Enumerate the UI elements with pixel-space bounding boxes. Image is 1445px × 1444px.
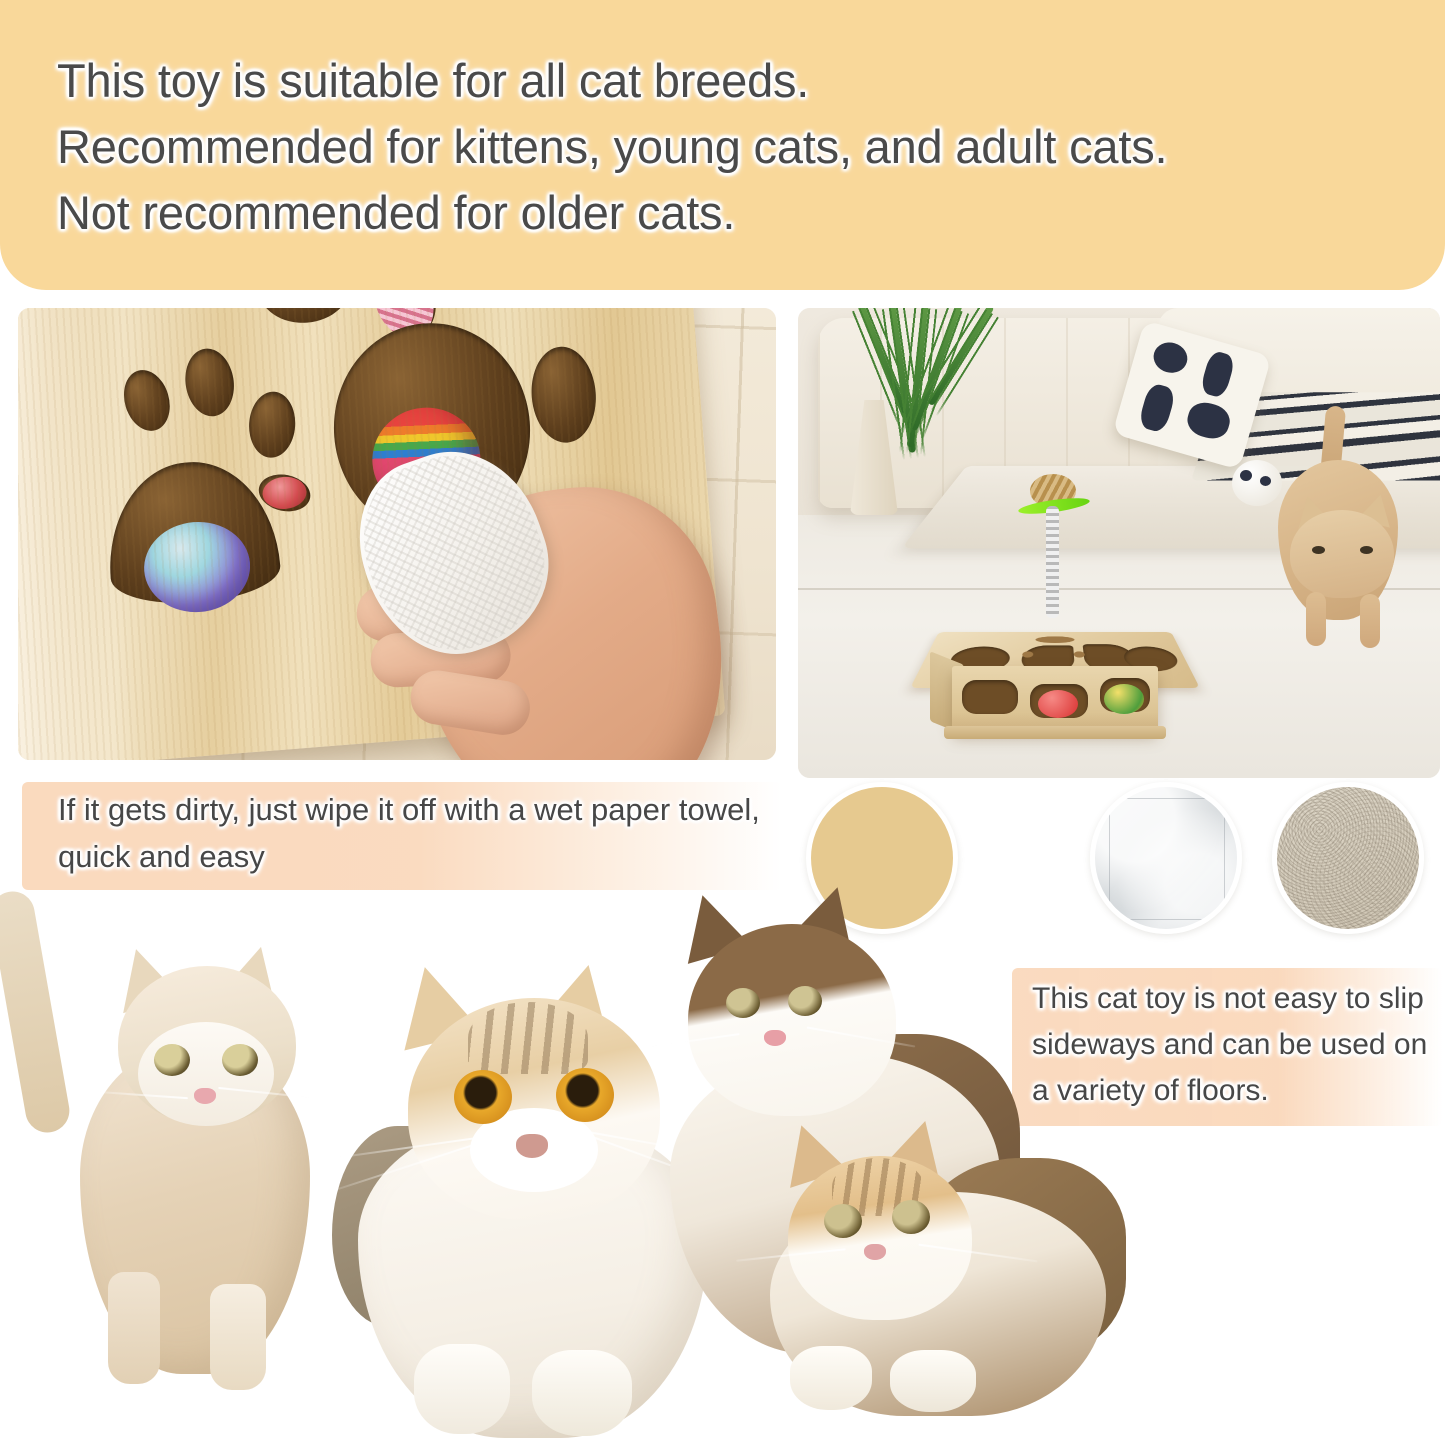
paw-pad-hole-large <box>102 456 282 609</box>
header-line-1: This toy is suitable for all cat breeds. <box>57 48 1397 114</box>
header-line-2: Recommended for kittens, young cats, and… <box>57 114 1397 180</box>
toy-box-front <box>952 666 1158 732</box>
eye-left <box>726 988 760 1018</box>
cat-head <box>1290 510 1394 598</box>
header-line-3: Not recommended for older cats. <box>57 180 1397 246</box>
room-photo <box>798 308 1440 778</box>
paw-front-right <box>532 1350 632 1436</box>
ball-yellow-inside <box>1104 684 1144 714</box>
spring-coil <box>1046 506 1059 618</box>
cat-leg-left <box>1306 592 1326 646</box>
cat-group-photo <box>0 884 1160 1444</box>
ball-red-inside <box>1038 690 1078 718</box>
paw-toe-hole-1 <box>117 364 177 436</box>
cat-tabby-kitten <box>740 1102 1140 1432</box>
header-banner: This toy is suitable for all cat breeds.… <box>0 0 1445 290</box>
wooden-toy-box <box>926 598 1184 756</box>
paw-toe-hole-6 <box>361 308 447 345</box>
cat-eye-left <box>1312 546 1325 554</box>
paw-toe-hole-2 <box>181 345 239 419</box>
nose <box>194 1088 216 1104</box>
eye-right <box>556 1068 614 1122</box>
board-highlight <box>18 308 139 760</box>
header-text-block: This toy is suitable for all cat breeds.… <box>57 48 1397 246</box>
nose <box>764 1030 786 1046</box>
wipe-photo <box>18 308 776 760</box>
cat-leg-right <box>1360 594 1380 648</box>
side-hole-left <box>962 680 1018 714</box>
paw-toe-hole-3 <box>247 390 297 459</box>
paw-front-left <box>414 1344 510 1434</box>
ball-purple-teal <box>141 518 254 616</box>
eye-left <box>824 1204 862 1238</box>
eye-right <box>222 1044 258 1076</box>
nose <box>864 1244 886 1260</box>
eye-left <box>154 1044 190 1076</box>
face <box>138 1022 274 1126</box>
nose <box>516 1134 548 1158</box>
orange-cat-walking <box>1250 418 1436 678</box>
forehead-stripes <box>468 1002 588 1074</box>
paw-front-left <box>790 1346 872 1410</box>
paw-front-right <box>890 1350 976 1412</box>
wipe-caption: If it gets dirty, just wipe it off with … <box>22 782 782 890</box>
cat-eye-right <box>1360 546 1373 554</box>
ball-pink-striped <box>363 308 444 347</box>
ball-red-small <box>261 475 307 510</box>
tail <box>0 888 73 1136</box>
head <box>688 924 896 1116</box>
eye-left <box>454 1070 512 1124</box>
toy-box-base <box>944 726 1166 739</box>
leg-front-left <box>108 1272 160 1384</box>
leg-front-right <box>210 1284 266 1390</box>
eye-right <box>788 986 822 1016</box>
fern-plant <box>826 308 1046 472</box>
paw-toe-hole-4 <box>255 470 313 516</box>
hand-wiping <box>355 405 776 760</box>
carpet-floor-swatch <box>1272 782 1424 934</box>
paw-toe-hole-5 <box>256 308 353 326</box>
eye-right <box>892 1200 930 1234</box>
